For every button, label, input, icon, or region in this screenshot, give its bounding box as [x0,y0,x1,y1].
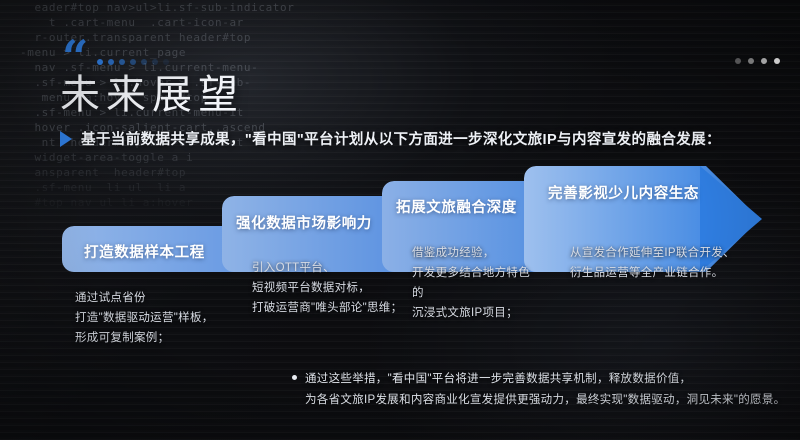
step-label-3: 拓展文旅融合深度 [396,196,517,217]
bullet-dot-icon [292,375,297,380]
accent-dot-row [97,59,169,65]
corner-dot-indicator [735,58,780,64]
step-note-4: 从宣发合作延伸至IP联合开发、 衍生品运营等全产业链合作。 [570,243,735,283]
step-note-1: 通过试点省份 打造"数据驱动运营"样板， 形成可复制案例； [75,288,214,348]
subtitle-row: 基于当前数据共享成果，"看中国"平台计划从以下方面进一步深化文旅IP与内容宣发的… [60,128,721,149]
step-label-2: 强化数据市场影响力 [236,212,372,233]
triangle-bullet-icon [60,131,72,147]
page-title: 未来展望 [60,72,244,118]
quote-mark-icon: “ [62,38,86,76]
slide-canvas: eader#top nav>ul>li.sf-sub-indicator t .… [0,0,800,440]
footer-summary: 通过这些举措，"看中国"平台将进一步完善数据共享机制，释放数据价值， 为各省文旅… [292,369,785,411]
step-note-2: 引入OTT平台、 短视频平台数据对标， 打破运营商"唯头部论"思维； [252,258,402,318]
step-label-4: 完善影视少儿内容生态 [548,182,699,203]
subtitle-text: 基于当前数据共享成果，"看中国"平台计划从以下方面进一步深化文旅IP与内容宣发的… [81,128,721,149]
footer-text: 通过这些举措，"看中国"平台将进一步完善数据共享机制，释放数据价值， 为各省文旅… [305,369,785,411]
step-label-1: 打造数据样本工程 [84,241,205,262]
step-note-3: 借鉴成功经验， 开发更多结合地方特色 的 沉浸式文旅IP项目； [412,243,530,323]
